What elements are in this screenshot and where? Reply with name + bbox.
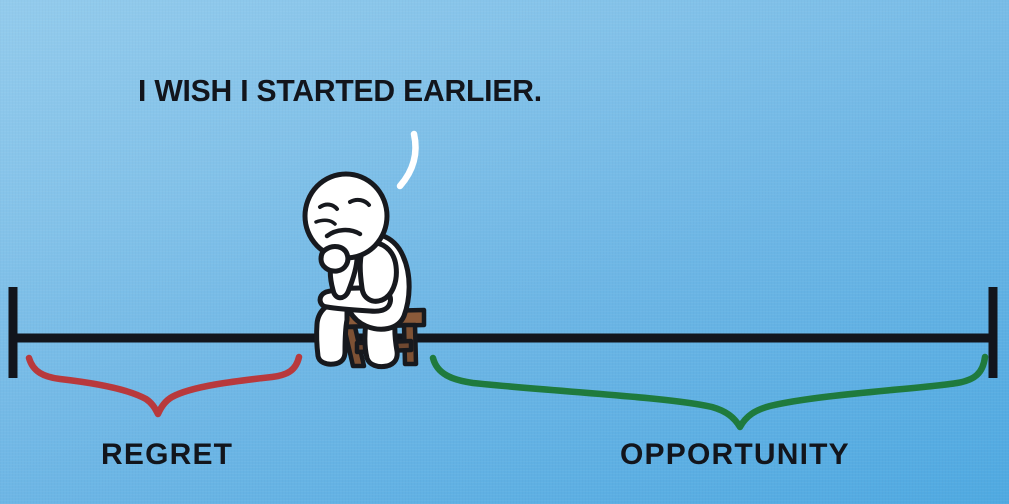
segment-label-regret: REGRET [101,438,233,472]
segment-label-opportunity: OPPORTUNITY [620,438,850,472]
timeline-axis [13,287,993,378]
speech-tail-icon [400,134,415,186]
quote-text: I WISH I STARTED EARLIER. [138,73,542,109]
figure-head [305,174,387,258]
illustration-canvas: I WISH I STARTED EARLIER. REGRET OPPORTU… [0,0,1009,504]
figure-hand [321,247,348,272]
opportunity-brace [433,357,985,427]
regret-brace [29,357,299,414]
